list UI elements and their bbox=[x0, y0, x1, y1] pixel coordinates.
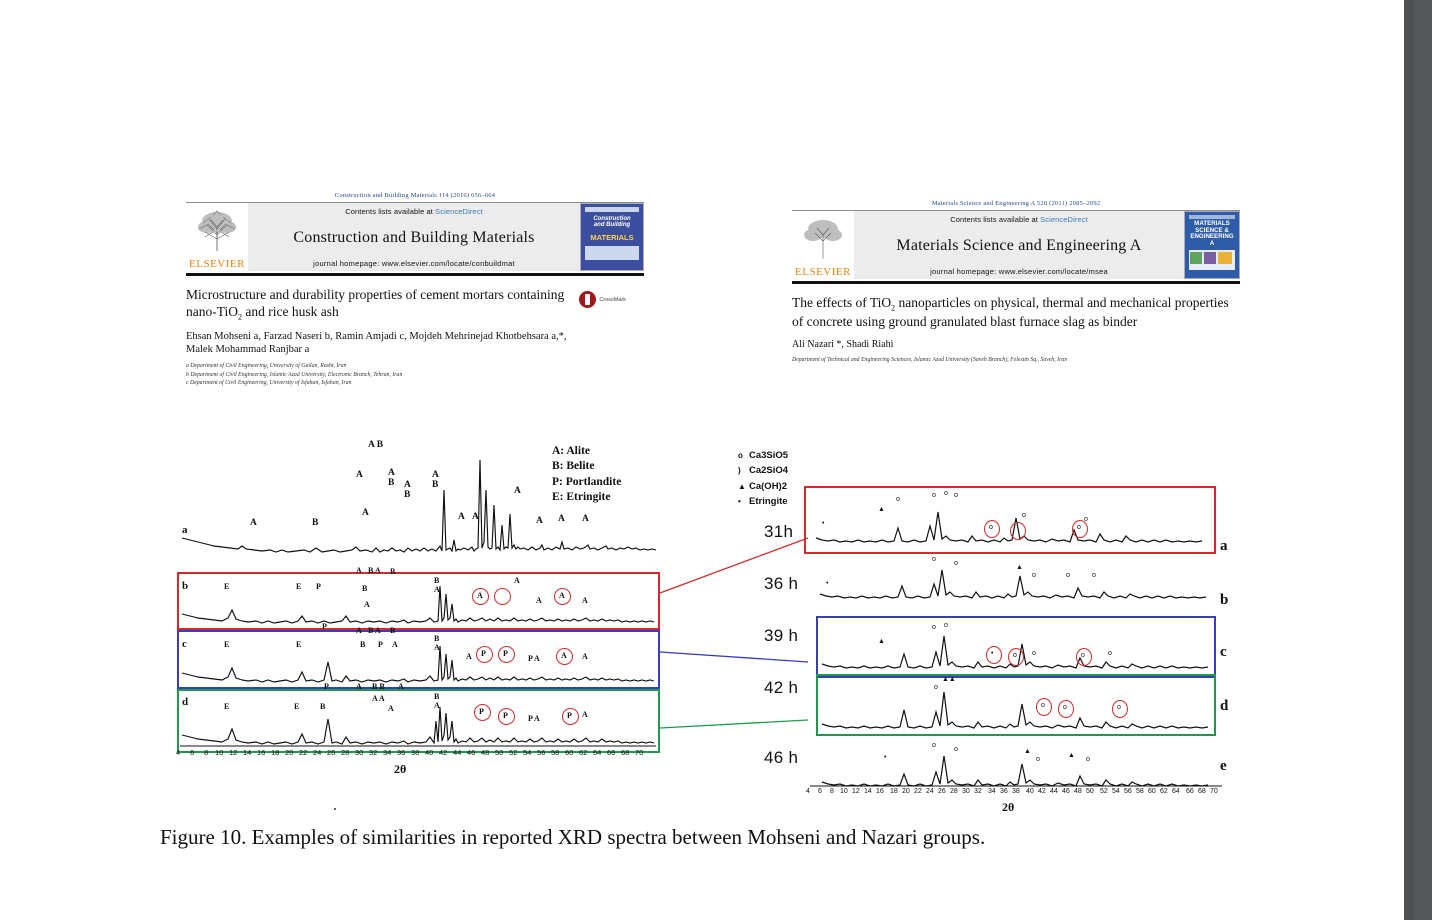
legend-label: Ca3SiO5 bbox=[749, 450, 788, 461]
circled-marker-o: o bbox=[1117, 704, 1121, 711]
circled-annotation bbox=[986, 646, 1002, 664]
tick-30: 30 bbox=[355, 748, 363, 757]
peak-label-AB: AB bbox=[432, 470, 439, 490]
tick-44: 44 bbox=[453, 748, 461, 757]
connector-red bbox=[660, 538, 808, 593]
peak-label-A: A bbox=[582, 596, 588, 605]
cover-swatch bbox=[1218, 252, 1232, 264]
cover-swatch bbox=[1190, 252, 1202, 264]
tick-52: 52 bbox=[509, 748, 517, 757]
tick-70: 70 bbox=[1210, 788, 1218, 795]
contents-line: Contents lists available at ScienceDirec… bbox=[345, 207, 483, 216]
tick-68: 68 bbox=[1198, 788, 1206, 795]
peak-label-A: A bbox=[514, 486, 521, 496]
tick-48: 48 bbox=[481, 748, 489, 757]
tick-22: 22 bbox=[299, 748, 307, 757]
peak-label-A: A bbox=[536, 596, 542, 605]
journal-reference-line: Construction and Building Materials 114 … bbox=[186, 192, 644, 199]
elsevier-tree-icon bbox=[797, 213, 849, 261]
peak-marker-o: o bbox=[954, 746, 958, 753]
peak-label-AB: AB bbox=[404, 480, 411, 500]
tick-46: 46 bbox=[1062, 788, 1070, 795]
paper-header-nazari: Materials Science and Engineering A 528 … bbox=[792, 200, 1240, 364]
tick-10: 10 bbox=[215, 748, 223, 757]
affiliation-1: Department of Technical and Engineering … bbox=[792, 356, 1240, 365]
peak-label-A: A bbox=[364, 600, 370, 609]
peak-label-A: A bbox=[466, 652, 472, 661]
article-affiliations: a Department of Civil Engineering, Unive… bbox=[186, 362, 644, 388]
row-label-b: b bbox=[1220, 592, 1228, 609]
tick-18: 18 bbox=[271, 748, 279, 757]
scrollbar-track[interactable] bbox=[1414, 0, 1432, 920]
tick-70: 70 bbox=[635, 748, 643, 757]
peak-label-E: E bbox=[224, 640, 229, 649]
article-affiliations: Department of Technical and Engineering … bbox=[792, 356, 1240, 365]
circled-marker-o: • bbox=[991, 650, 993, 657]
tick-42: 42 bbox=[1038, 788, 1046, 795]
circled-annotation bbox=[494, 588, 511, 605]
peak-marker-triangle-icon: ▲▲ bbox=[942, 676, 956, 683]
peak-label-B: B bbox=[312, 518, 318, 528]
cover-title-materials: MATERIALS bbox=[584, 234, 640, 242]
peak-marker-o: o bbox=[1066, 572, 1070, 579]
cover-title-text: MATERIALSSCIENCE &ENGINEERINGA bbox=[1188, 221, 1236, 247]
peak-marker-triangle-icon: ▲ bbox=[1024, 748, 1031, 755]
tick-38: 38 bbox=[411, 748, 419, 757]
peak-marker-o: o bbox=[954, 560, 958, 567]
tick-48: 48 bbox=[1074, 788, 1082, 795]
peak-label-P: P A bbox=[528, 654, 540, 663]
circled-marker-o: o bbox=[1063, 704, 1067, 711]
tick-44: 44 bbox=[1050, 788, 1058, 795]
peak-label-A: A bbox=[250, 518, 257, 528]
journal-title: Construction and Building Materials bbox=[293, 229, 534, 247]
tick-46: 46 bbox=[467, 748, 475, 757]
peak-label-A: A bbox=[362, 508, 369, 518]
journal-cover-thumbnail: MATERIALSSCIENCE &ENGINEERINGA bbox=[1184, 211, 1240, 279]
peak-marker-o: o bbox=[932, 556, 936, 563]
paper-header-mohseni: Construction and Building Materials 114 … bbox=[186, 192, 644, 388]
tick-4: 4 bbox=[176, 748, 180, 757]
tick-42: 42 bbox=[439, 748, 447, 757]
circled-label-A: A bbox=[561, 651, 567, 660]
tick-50: 50 bbox=[495, 748, 503, 757]
spectrum-trace-b bbox=[178, 574, 662, 632]
peak-label-B: B bbox=[390, 567, 395, 576]
peak-label-BB: B B bbox=[372, 682, 385, 691]
peak-marker-o: o bbox=[1032, 572, 1036, 579]
affiliation-a: a Department of Civil Engineering, Unive… bbox=[186, 362, 644, 371]
tick-54: 54 bbox=[1112, 788, 1120, 795]
peak-label-E: E bbox=[224, 582, 229, 591]
peak-label-A: A bbox=[582, 652, 588, 661]
cover-artwork bbox=[1189, 250, 1235, 270]
peak-marker-o: o bbox=[954, 492, 958, 499]
tick-66: 66 bbox=[607, 748, 615, 757]
tick-36: 36 bbox=[397, 748, 405, 757]
peak-label-A: A bbox=[536, 516, 543, 526]
peak-marker-o: o bbox=[944, 490, 948, 497]
peak-label-B: B bbox=[320, 702, 325, 711]
tick-20: 20 bbox=[285, 748, 293, 757]
peak-label-PA: P A bbox=[528, 714, 540, 723]
peak-label-E: E bbox=[296, 582, 301, 591]
tick-60: 60 bbox=[1148, 788, 1156, 795]
elsevier-logo: ELSEVIER bbox=[186, 203, 248, 271]
tick-58: 58 bbox=[1136, 788, 1144, 795]
journal-title: Materials Science and Engineering A bbox=[896, 237, 1141, 255]
tick-66: 66 bbox=[1186, 788, 1194, 795]
tick-30: 30 bbox=[962, 788, 970, 795]
peak-label-A: A bbox=[582, 710, 588, 719]
peak-label-A: A bbox=[356, 566, 362, 575]
legend-item-ca3sio5: oCa3SiO5 bbox=[738, 448, 788, 463]
figure-caption: Figure 10. Examples of similarities in r… bbox=[160, 822, 1180, 852]
connector-lines bbox=[650, 470, 910, 800]
trace-label-b: b bbox=[182, 580, 188, 592]
journal-banner: ELSEVIER Contents lists available at Sci… bbox=[186, 203, 644, 271]
circled-label-P: P bbox=[503, 711, 508, 720]
tick-26: 26 bbox=[327, 748, 335, 757]
peak-marker-o: o bbox=[1086, 756, 1090, 763]
peak-marker-o: o bbox=[1032, 650, 1036, 657]
peak-label-A: A bbox=[472, 512, 479, 522]
article-authors: Ali Nazari *, Shadi Riahi bbox=[792, 338, 1240, 351]
peak-label-E: E bbox=[294, 702, 299, 711]
tick-8: 8 bbox=[204, 748, 208, 757]
tick-32: 32 bbox=[974, 788, 982, 795]
header-bottom-rule bbox=[792, 281, 1240, 284]
article-title: Microstructure and durability properties… bbox=[186, 287, 578, 323]
cover-swatch bbox=[1204, 252, 1216, 264]
row-label-c: c bbox=[1220, 644, 1227, 661]
subscript-2: 2 bbox=[891, 304, 895, 313]
article-title-line1: Microstructure and durability properties… bbox=[186, 287, 564, 302]
tick-12: 12 bbox=[229, 748, 237, 757]
tick-14: 14 bbox=[243, 748, 251, 757]
journal-homepage[interactable]: journal homepage: www.elsevier.com/locat… bbox=[930, 267, 1108, 276]
elsevier-wordmark: ELSEVIER bbox=[189, 259, 245, 270]
peak-label-A: A bbox=[356, 682, 362, 691]
peak-label-P: P bbox=[378, 640, 383, 649]
trace-label-d: d bbox=[182, 696, 188, 708]
connector-blue bbox=[660, 652, 808, 662]
row-label-d: d bbox=[1220, 698, 1228, 715]
tick-54: 54 bbox=[523, 748, 531, 757]
x-axis-title-nazari: 2θ bbox=[1002, 800, 1014, 815]
authors-line-2: Malek Mohammad Ranjbar a bbox=[186, 344, 309, 355]
peak-label-A: A bbox=[582, 514, 589, 524]
peak-label-A: A bbox=[398, 682, 404, 691]
peak-marker-o: o bbox=[1036, 756, 1040, 763]
contents-prefix: Contents lists available at bbox=[345, 207, 435, 216]
crossmark-icon bbox=[579, 291, 596, 308]
peak-label-A: A B bbox=[368, 440, 383, 450]
circled-annotation bbox=[1010, 522, 1026, 540]
connector-green bbox=[660, 720, 808, 728]
article-title: The effects of TiO2 nanoparticles on phy… bbox=[792, 295, 1238, 331]
peak-label-BA: B A bbox=[368, 566, 381, 575]
tick-40: 40 bbox=[1026, 788, 1034, 795]
cover-title-text: Constructionand Building bbox=[584, 216, 640, 229]
tick-62: 62 bbox=[579, 748, 587, 757]
tick-64: 64 bbox=[593, 748, 601, 757]
tick-56: 56 bbox=[1124, 788, 1132, 795]
header-bottom-rule bbox=[186, 273, 644, 276]
peak-label-A: A bbox=[388, 704, 394, 713]
tick-34: 34 bbox=[988, 788, 996, 795]
tick-40: 40 bbox=[425, 748, 433, 757]
circled-label-P: P bbox=[479, 707, 484, 716]
tick-32: 32 bbox=[369, 748, 377, 757]
xrd-chart-mohseni: A: Alite B: Belite P: Portlandite E: Etr… bbox=[176, 424, 666, 774]
peak-marker-o: o bbox=[1022, 512, 1026, 519]
peak-label-A: A bbox=[514, 576, 520, 585]
peak-marker-o: o bbox=[932, 742, 936, 749]
spectrum-trace-a bbox=[176, 430, 666, 580]
tick-60: 60 bbox=[565, 748, 573, 757]
journal-banner: ELSEVIER Contents lists available at Sci… bbox=[792, 211, 1240, 279]
peak-label-A: A bbox=[356, 626, 362, 635]
window-right-rail bbox=[1404, 0, 1432, 920]
peak-label-A: A bbox=[458, 512, 465, 522]
peak-marker-triangle-icon: ▲ bbox=[1068, 752, 1075, 759]
tick-28: 28 bbox=[341, 748, 349, 757]
journal-banner-center: Contents lists available at ScienceDirec… bbox=[248, 203, 580, 271]
tick-28: 28 bbox=[950, 788, 958, 795]
peak-label-B: B bbox=[360, 640, 365, 649]
sciencedirect-link[interactable]: ScienceDirect bbox=[1040, 215, 1088, 224]
journal-cover-thumbnail: Constructionand Building MATERIALS bbox=[580, 203, 644, 271]
journal-homepage[interactable]: journal homepage: www.elsevier.com/locat… bbox=[313, 259, 515, 268]
contents-prefix: Contents lists available at bbox=[950, 215, 1040, 224]
contents-line: Contents lists available at ScienceDirec… bbox=[950, 215, 1088, 224]
circled-label-A: A bbox=[559, 591, 565, 600]
row-label-e: e bbox=[1220, 758, 1227, 775]
peak-label-AA: A A bbox=[372, 694, 385, 703]
elsevier-wordmark: ELSEVIER bbox=[795, 267, 851, 278]
peak-label-P: P bbox=[324, 682, 329, 691]
x-axis-title-mohseni: 2θ bbox=[394, 762, 406, 777]
circled-marker-o: o bbox=[1077, 524, 1081, 531]
tick-22: 22 bbox=[914, 788, 922, 795]
tick-38: 38 bbox=[1012, 788, 1020, 795]
peak-marker-triangle-icon: ▲ bbox=[1016, 564, 1023, 571]
elsevier-logo: ELSEVIER bbox=[792, 211, 854, 279]
tick-52: 52 bbox=[1100, 788, 1108, 795]
tick-50: 50 bbox=[1086, 788, 1094, 795]
sciencedirect-link[interactable]: ScienceDirect bbox=[435, 207, 483, 216]
tick-24: 24 bbox=[926, 788, 934, 795]
circled-label-P: P bbox=[567, 711, 572, 720]
peak-marker-o: o bbox=[932, 624, 936, 631]
spectrum-trace-c bbox=[178, 632, 662, 691]
affiliation-b: b Department of Civil Engineering, Islam… bbox=[186, 371, 644, 380]
circled-label-P: P bbox=[481, 649, 486, 658]
peak-label-BA: BA bbox=[434, 692, 440, 710]
peak-marker-o: o bbox=[1092, 572, 1096, 579]
peak-marker-o: o bbox=[944, 622, 948, 629]
peak-label-E: E bbox=[224, 702, 229, 711]
tick-56: 56 bbox=[537, 748, 545, 757]
row-label-a: a bbox=[1220, 538, 1228, 555]
x-axis-ticklabels-mohseni: 4 6 8 10 12 14 16 18 20 22 24 26 28 30 3… bbox=[176, 748, 666, 762]
peak-marker-o: o bbox=[934, 684, 938, 691]
cover-top-strip bbox=[1189, 215, 1235, 219]
peak-marker-o: o bbox=[1108, 650, 1112, 657]
tick-62: 62 bbox=[1160, 788, 1168, 795]
tick-16: 16 bbox=[257, 748, 265, 757]
subscript-2: 2 bbox=[238, 313, 242, 322]
tick-34: 34 bbox=[383, 748, 391, 757]
tick-24: 24 bbox=[313, 748, 321, 757]
circled-label-P: P bbox=[503, 649, 508, 658]
stray-dot bbox=[334, 808, 336, 810]
tick-6: 6 bbox=[190, 748, 194, 757]
circled-marker-o: o bbox=[1041, 702, 1045, 709]
elsevier-tree-icon bbox=[191, 205, 243, 253]
document-page: Construction and Building Materials 114 … bbox=[0, 0, 1404, 920]
cover-artwork bbox=[585, 246, 639, 260]
circled-marker-o: o bbox=[989, 524, 993, 531]
peak-label-AB: AB bbox=[388, 468, 395, 488]
peak-label-B: B bbox=[362, 584, 367, 593]
tick-26: 26 bbox=[938, 788, 946, 795]
circled-label-A: A bbox=[477, 591, 483, 600]
peak-label-P: P bbox=[316, 582, 321, 591]
journal-banner-center: Contents lists available at ScienceDirec… bbox=[854, 211, 1184, 279]
tick-64: 64 bbox=[1172, 788, 1180, 795]
peak-label-A: A bbox=[356, 470, 363, 480]
authors-line-1: Ehsan Mohseni a, Farzad Naseri b, Ramin … bbox=[186, 331, 567, 342]
authors-line-1: Ali Nazari *, Shadi Riahi bbox=[792, 339, 893, 350]
tick-68: 68 bbox=[621, 748, 629, 757]
peak-label-B: BA bbox=[434, 576, 440, 594]
peak-label-B: BA bbox=[434, 634, 440, 652]
journal-reference-line: Materials Science and Engineering A 528 … bbox=[792, 200, 1240, 207]
legend-marker-circle-icon: o bbox=[738, 450, 749, 463]
peak-label-B: B bbox=[390, 626, 395, 635]
crossmark-label: CrossMark bbox=[599, 297, 626, 303]
peak-label-P: P bbox=[322, 622, 327, 631]
peak-label-BA: B A bbox=[368, 626, 381, 635]
peak-marker-o: o bbox=[932, 492, 936, 499]
peak-label-A: A bbox=[392, 640, 398, 649]
article-title-line2: of concrete using ground granulated blas… bbox=[792, 314, 1137, 329]
affiliation-c: c Department of Civil Engineering, Unive… bbox=[186, 379, 644, 388]
article-authors: Ehsan Mohseni a, Farzad Naseri b, Ramin … bbox=[186, 330, 644, 357]
peak-label-A: A bbox=[558, 514, 565, 524]
peak-label-E: E bbox=[296, 640, 301, 649]
trace-label-a: a bbox=[182, 524, 188, 536]
trace-label-c: c bbox=[182, 638, 187, 650]
tick-36: 36 bbox=[1000, 788, 1008, 795]
cover-top-strip bbox=[585, 207, 639, 212]
circled-marker-o: o bbox=[1013, 652, 1017, 659]
circled-marker-o: o bbox=[1081, 652, 1085, 659]
crossmark-badge: CrossMark bbox=[579, 291, 626, 308]
tick-58: 58 bbox=[551, 748, 559, 757]
